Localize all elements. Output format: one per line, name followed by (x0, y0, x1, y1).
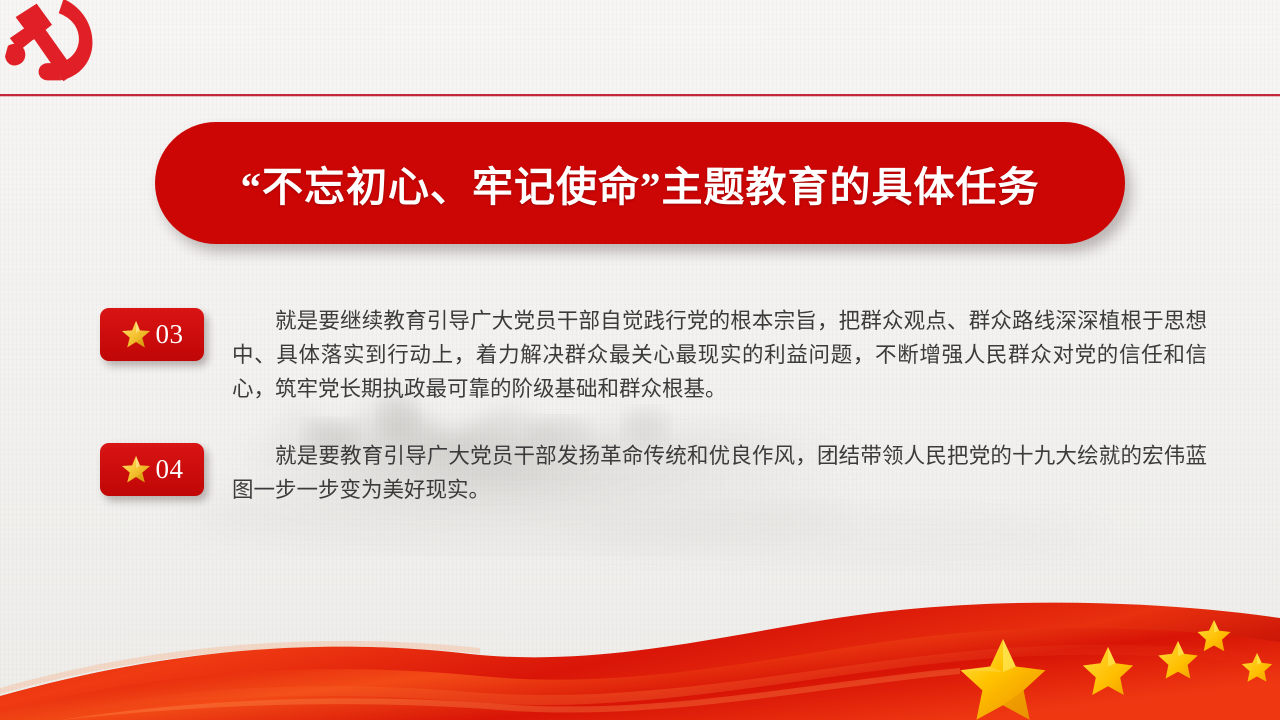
header-divider-rule (0, 94, 1280, 96)
header (0, 0, 1280, 96)
title-banner: “不忘初心、牢记使命”主题教育的具体任务 (155, 122, 1125, 244)
gold-star-icon (121, 319, 151, 349)
chinese-flag-wave-decoration (0, 580, 1280, 720)
page-title: “不忘初心、牢记使命”主题教育的具体任务 (241, 153, 1040, 213)
section-number-03: 03 (156, 321, 184, 348)
section-badge-03: 03 (100, 308, 204, 361)
gold-star-icon (121, 454, 151, 484)
section-body-04: 就是要教育引导广大党员干部发扬革命传统和优良作风，团结带领人民把党的十九大绘就的… (232, 439, 1207, 507)
slide: “不忘初心、牢记使命”主题教育的具体任务 03 就是要继续教育引导广大党员干部自… (0, 0, 1280, 720)
cpc-hammer-sickle-emblem (4, 0, 100, 88)
section-badge-04: 04 (100, 443, 204, 496)
section-number-04: 04 (156, 456, 184, 483)
section-body-03: 就是要继续教育引导广大党员干部自觉践行党的根本宗旨，把群众观点、群众路线深深植根… (232, 304, 1207, 406)
